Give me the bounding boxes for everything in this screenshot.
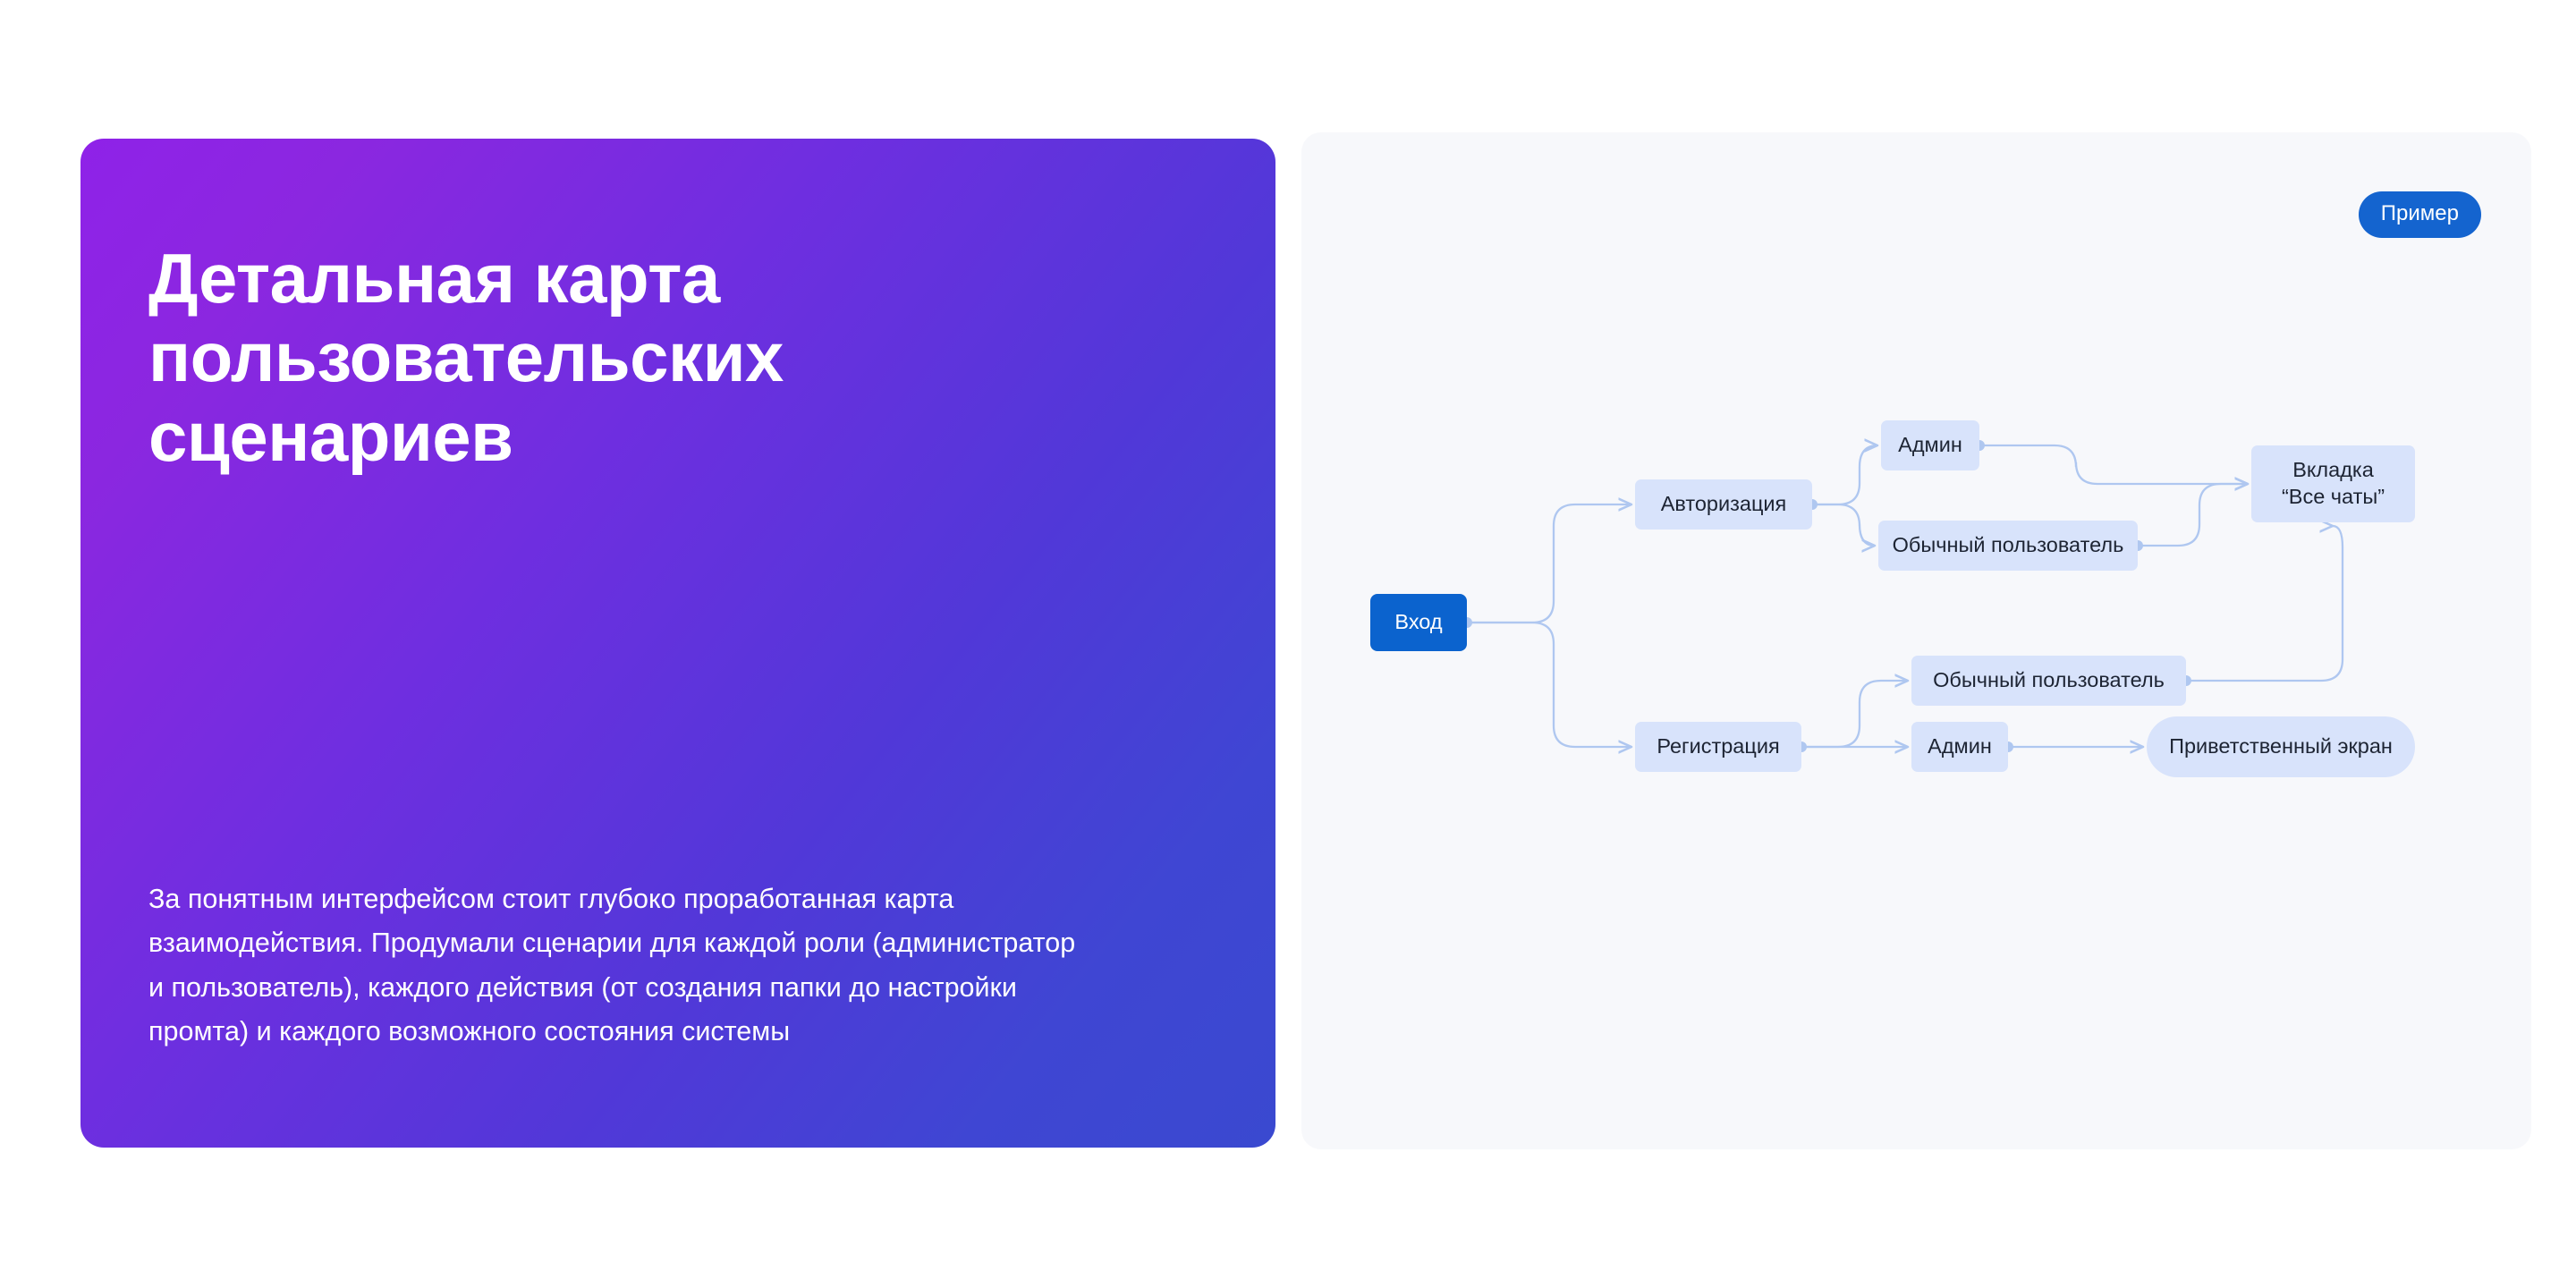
diagram-edges <box>1301 132 2531 1149</box>
hero-card: Детальная карта пользовательских сценари… <box>80 139 1275 1148</box>
node-admin-bottom[interactable]: Админ <box>1911 722 2008 772</box>
node-vkladka-vse-chaty[interactable]: Вкладка “Все чаты” <box>2251 445 2415 522</box>
page-root: Детальная карта пользовательских сценари… <box>0 0 2576 1288</box>
node-vhod[interactable]: Вход <box>1370 594 1467 651</box>
page-title: Детальная карта пользовательских сценари… <box>148 239 1168 475</box>
node-registraciya[interactable]: Регистрация <box>1635 722 1801 772</box>
node-privetstvennyy-ekran[interactable]: Приветственный экран <box>2147 716 2415 777</box>
hero-description: За понятным интерфейсом стоит глубоко пр… <box>148 877 1204 1055</box>
node-admin-top[interactable]: Админ <box>1881 420 1979 470</box>
node-user-bottom[interactable]: Обычный пользователь <box>1911 656 2186 706</box>
node-user-top[interactable]: Обычный пользователь <box>1878 521 2138 571</box>
node-avtorizaciya[interactable]: Авторизация <box>1635 479 1812 530</box>
diagram-panel: Пример <box>1301 132 2531 1149</box>
user-flow-diagram: Вход Авторизация Админ Обычный пользоват… <box>1301 132 2531 1149</box>
